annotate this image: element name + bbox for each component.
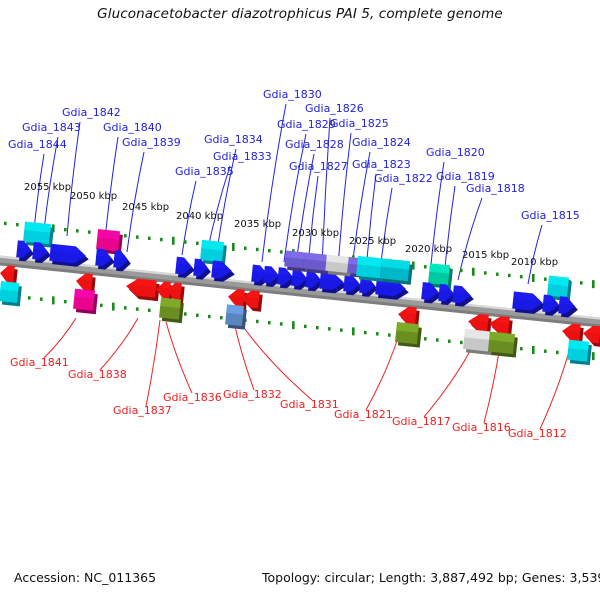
ruler-tick-label: 2035 kbp bbox=[234, 219, 281, 230]
gene-label[interactable]: Gdia_1829 bbox=[277, 118, 336, 131]
gene-label[interactable]: Gdia_1822 bbox=[374, 172, 433, 185]
feature-magenta-2[interactable] bbox=[73, 289, 98, 314]
feature-red-3[interactable] bbox=[125, 278, 160, 302]
gene-label[interactable]: Gdia_1820 bbox=[426, 146, 485, 159]
leader-line bbox=[234, 322, 254, 390]
lower-gene-labels[interactable]: Gdia_1841Gdia_1838Gdia_1837Gdia_1836Gdia… bbox=[10, 356, 567, 440]
leader-line bbox=[284, 134, 306, 262]
ruler-tick-label: 2015 kbp bbox=[462, 250, 509, 261]
feature-purple-2[interactable] bbox=[303, 252, 330, 274]
gene-label[interactable]: Gdia_1844 bbox=[8, 138, 67, 151]
ruler-tick-label: 2030 kbp bbox=[292, 228, 339, 239]
leader-line bbox=[458, 198, 482, 280]
ruler-tick-label: 2025 kbp bbox=[349, 236, 396, 247]
leader-line bbox=[308, 176, 318, 266]
gene-label[interactable]: Gdia_1816 bbox=[452, 421, 511, 434]
gene-label[interactable]: Gdia_1825 bbox=[330, 117, 389, 130]
feature-gray-1[interactable] bbox=[325, 255, 352, 277]
gene-label[interactable]: Gdia_1817 bbox=[392, 415, 451, 428]
leader-line bbox=[44, 318, 76, 358]
status-footer: Accession: NC_011365 Topology: circular;… bbox=[0, 570, 600, 588]
leader-line bbox=[67, 122, 80, 236]
ruler-tick-label: 2050 kbp bbox=[70, 191, 117, 202]
ruler-tick-label: 2010 kbp bbox=[511, 257, 558, 268]
ruler-tick-label: 2020 kbp bbox=[405, 244, 452, 255]
gene-label[interactable]: Gdia_1824 bbox=[352, 136, 411, 149]
gene-label[interactable]: Gdia_1828 bbox=[285, 138, 344, 151]
gene-label[interactable]: Gdia_1812 bbox=[508, 427, 567, 440]
gene-label[interactable]: Gdia_1840 bbox=[103, 121, 162, 134]
genome-map-canvas[interactable]: 2055 kbp2050 kbp2045 kbp2040 kbp2035 kbp… bbox=[0, 0, 600, 600]
feature-olive-2[interactable] bbox=[395, 322, 422, 348]
gene-label[interactable]: Gdia_1842 bbox=[62, 106, 121, 119]
feature-olive-1[interactable] bbox=[159, 298, 184, 323]
gene-label[interactable]: Gdia_1843 bbox=[22, 121, 81, 134]
gene-label[interactable]: Gdia_1839 bbox=[122, 136, 181, 149]
gene-label[interactable]: Gdia_1841 bbox=[10, 356, 69, 369]
genome-map-viewer: Gluconacetobacter diazotrophicus PAI 5, … bbox=[0, 0, 600, 600]
leader-line bbox=[146, 320, 160, 406]
gene-label[interactable]: Gdia_1830 bbox=[263, 88, 322, 101]
leader-line bbox=[528, 225, 542, 284]
ruler-tick-label: 2045 kbp bbox=[122, 202, 169, 213]
gene-label[interactable]: Gdia_1826 bbox=[305, 102, 364, 115]
gene-label[interactable]: Gdia_1835 bbox=[175, 165, 234, 178]
gene-label[interactable]: Gdia_1838 bbox=[68, 368, 127, 381]
accession-text: Accession: NC_011365 bbox=[14, 570, 156, 585]
leader-line bbox=[444, 186, 455, 278]
gene-label[interactable]: Gdia_1834 bbox=[204, 133, 263, 146]
leader-line bbox=[484, 346, 500, 423]
gene-label[interactable]: Gdia_1815 bbox=[521, 209, 580, 222]
gene-label[interactable]: Gdia_1818 bbox=[466, 182, 525, 195]
ruler-tick-label: 2055 kbp bbox=[24, 182, 71, 193]
ruler-tick-label: 2040 kbp bbox=[176, 211, 223, 222]
leader-line bbox=[366, 338, 398, 410]
leader-line bbox=[100, 318, 138, 370]
gene-label[interactable]: Gdia_1837 bbox=[113, 404, 172, 417]
leader-line bbox=[540, 348, 570, 429]
gene-label[interactable]: Gdia_1836 bbox=[163, 391, 222, 404]
feature-cyan-6[interactable] bbox=[0, 281, 22, 306]
leader-line bbox=[166, 322, 192, 393]
gene-label[interactable]: Gdia_1831 bbox=[280, 398, 339, 411]
gene-label[interactable]: Gdia_1827 bbox=[289, 160, 348, 173]
gene-label[interactable]: Gdia_1833 bbox=[213, 150, 272, 163]
gene-label[interactable]: Gdia_1823 bbox=[352, 158, 411, 171]
gene-label[interactable]: Gdia_1832 bbox=[223, 388, 282, 401]
gene-label[interactable]: Gdia_1821 bbox=[334, 408, 393, 421]
feature-cyan-7[interactable] bbox=[567, 340, 592, 365]
genome-summary-text: Topology: circular; Length: 3,887,492 bp… bbox=[262, 570, 600, 585]
feature-cyan-4[interactable] bbox=[380, 258, 413, 284]
feature-olive-3[interactable] bbox=[488, 332, 518, 358]
